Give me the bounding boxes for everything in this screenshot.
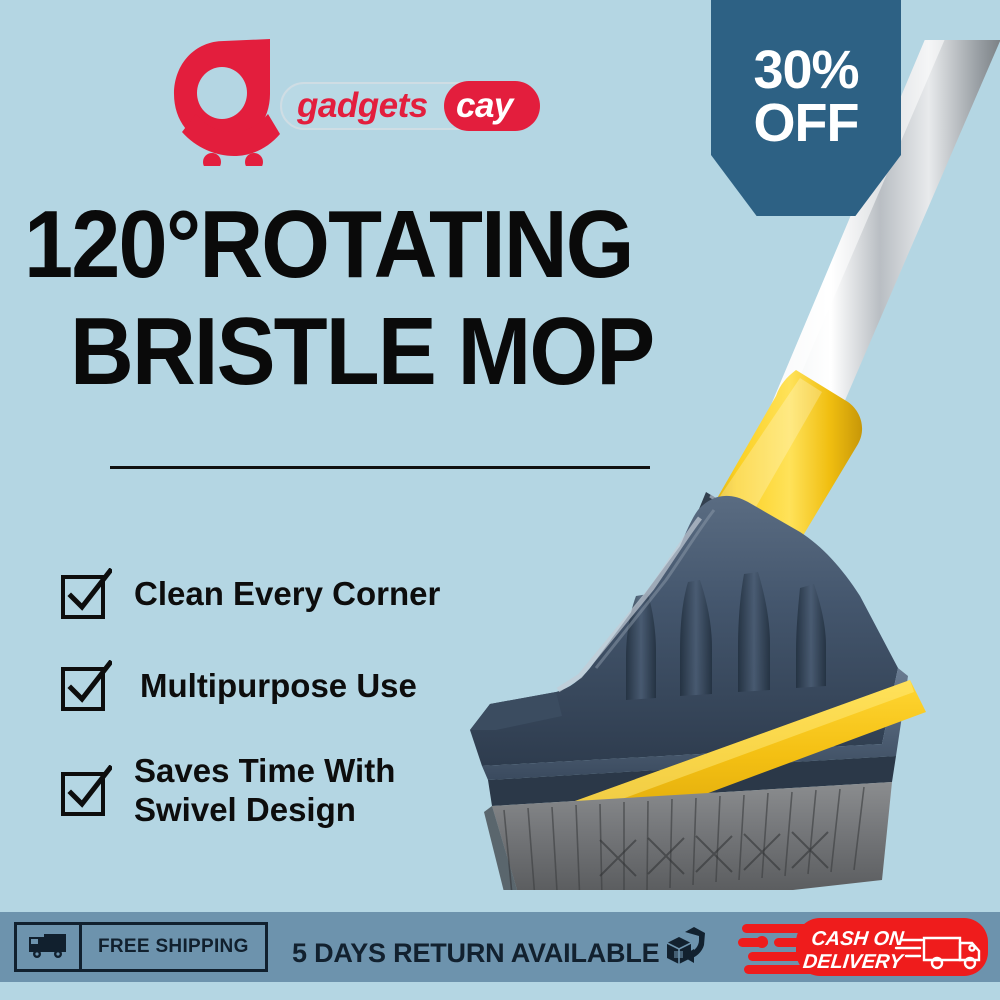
- brand-tag-pill: cay: [444, 81, 540, 131]
- return-policy-label: 5 DAYS RETURN AVAILABLE: [292, 938, 659, 969]
- return-box-arrow-icon: [664, 925, 710, 969]
- brand-logo[interactable]: gadgets cay: [172, 36, 542, 166]
- feature-label: Multipurpose Use: [134, 667, 417, 706]
- feature-label: Clean Every Corner: [134, 575, 440, 614]
- discount-ribbon-text: 30% OFF: [711, 44, 901, 150]
- free-shipping-label: FREE SHIPPING: [82, 925, 265, 969]
- feature-list: Clean Every Corner Multipurpose Use Save…: [60, 568, 440, 830]
- delivery-truck-icon: [17, 925, 82, 969]
- brand-word-gadgets: gadgets: [297, 86, 428, 126]
- discount-ribbon: 30% OFF: [711, 0, 901, 216]
- page-title: 120°ROTATING BRISTLE MOP: [24, 196, 704, 402]
- cod-line-1: CASH ON: [810, 928, 905, 950]
- headline-line-1: 120°ROTATING: [24, 196, 650, 295]
- checkbox-checked-icon: [60, 660, 112, 712]
- headline-line-2: BRISTLE MOP: [24, 303, 650, 402]
- product-image-rotating-bristle-mop: [430, 40, 1000, 890]
- discount-off-label: OFF: [711, 97, 901, 150]
- checkbox-checked-icon: [60, 765, 112, 817]
- brand-word-cay: cay: [456, 86, 513, 126]
- gadgets-cay-cart-g-logo-icon: [172, 36, 292, 166]
- list-item: Multipurpose Use: [60, 660, 440, 712]
- discount-percent: 30%: [711, 44, 901, 97]
- cash-on-delivery-badge: CASH ON DELIVERY: [738, 914, 990, 980]
- checkbox-checked-icon: [60, 568, 112, 620]
- free-shipping-badge: FREE SHIPPING: [14, 922, 268, 972]
- feature-label: Saves Time With Swivel Design: [134, 752, 395, 830]
- cod-line-2: DELIVERY: [802, 951, 906, 973]
- mop-head-body: [470, 496, 908, 806]
- product-advertisement-poster: 30% OFF gadgets cay 120°ROTATING BRISTLE…: [0, 0, 1000, 1000]
- list-item: Clean Every Corner: [60, 568, 440, 620]
- headline-divider: [110, 466, 650, 469]
- list-item: Saves Time With Swivel Design: [60, 752, 440, 830]
